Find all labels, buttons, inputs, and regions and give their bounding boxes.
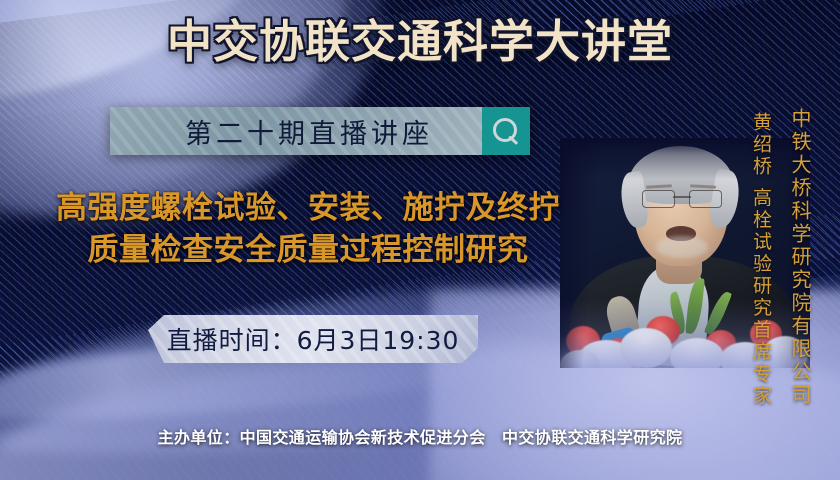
speaker-organization: 中铁大桥科学研究院有限公司: [786, 108, 815, 407]
search-icon: [493, 118, 519, 144]
topic-line-1: 高强度螺栓试验、安装、施拧及终拧: [56, 190, 560, 226]
eyeglasses-icon: [642, 190, 722, 207]
search-button[interactable]: [482, 107, 530, 155]
lecture-topic: 高强度螺栓试验、安装、施拧及终拧 质量检查安全质量过程控制研究: [8, 188, 608, 271]
episode-banner: 第二十期直播讲座: [110, 107, 530, 155]
speaker-name-and-role: 黄绍桥 高栓试验研究首席专家: [748, 112, 775, 407]
broadcast-time-label: 直播时间：6月3日19:30: [167, 321, 460, 357]
live-lecture-poster: 中交协联交通科学大讲堂 第二十期直播讲座 高强度螺栓试验、安装、施拧及终拧 质量…: [0, 0, 840, 480]
episode-label: 第二十期直播讲座: [159, 112, 433, 151]
episode-label-bar: 第二十期直播讲座: [110, 107, 482, 155]
topic-line-2: 质量检查安全质量过程控制研究: [8, 230, 608, 272]
page-title: 中交协联交通科学大讲堂: [0, 18, 840, 65]
broadcast-time-badge: 直播时间：6月3日19:30: [148, 315, 478, 363]
organizers-footer: 主办单位：中国交通运输协会新技术促进分会 中交协联交通科学研究院: [0, 424, 840, 448]
